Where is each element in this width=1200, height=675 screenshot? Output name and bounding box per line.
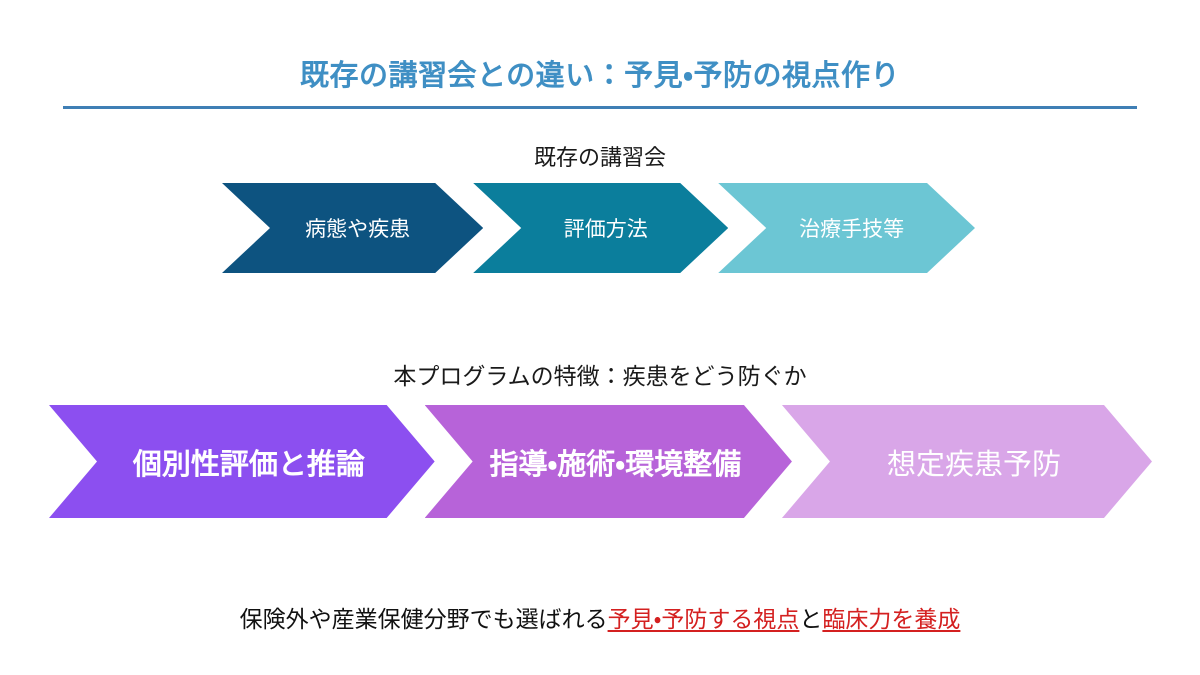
title-divider (63, 106, 1137, 109)
chevron-program-step-1-label: 個別性評価と推論 (119, 441, 365, 483)
chevron-row-legacy: 病態や疾患 評価方法 治療手技等 (222, 183, 975, 273)
chevron-program-step-2: 指導・施術・環境整備 (425, 405, 792, 518)
chevron-legacy-step-1: 病態や疾患 (222, 183, 483, 273)
chevron-legacy-step-2-label: 評価方法 (554, 213, 648, 243)
chevron-row-program: 個別性評価と推論 指導・施術・環境整備 想定疾患予防 (49, 405, 1152, 518)
page-title: 既存の講習会との違い：予見・予防の視点作り (0, 52, 1200, 94)
footer-caption: 保険外や産業保健分野でも選ばれる予見・予防する視点と臨床力を養成 (0, 600, 1200, 634)
footer-connector: と (799, 606, 822, 632)
chevron-program-step-3-label: 想定疾患予防 (873, 441, 1061, 483)
chevron-legacy-step-3: 治療手技等 (718, 183, 975, 273)
section-caption-legacy: 既存の講習会 (0, 140, 1200, 172)
chevron-program-step-2-label: 指導・施術・環境整備 (475, 441, 741, 483)
footer-highlight-clinical: 臨床力を養成 (822, 606, 960, 632)
chevron-legacy-step-3-label: 治療手技等 (789, 213, 904, 243)
chevron-program-step-3: 想定疾患予防 (782, 405, 1152, 518)
chevron-legacy-step-1-label: 病態や疾患 (295, 213, 410, 243)
chevron-legacy-step-2: 評価方法 (473, 183, 728, 273)
footer-lead-text: 保険外や産業保健分野でも選ばれる (240, 606, 608, 632)
section-caption-program: 本プログラムの特徴：疾患をどう防ぐか (0, 357, 1200, 391)
chevron-program-step-1: 個別性評価と推論 (49, 405, 435, 518)
footer-highlight-foresight: 予見・予防する視点 (608, 606, 800, 632)
